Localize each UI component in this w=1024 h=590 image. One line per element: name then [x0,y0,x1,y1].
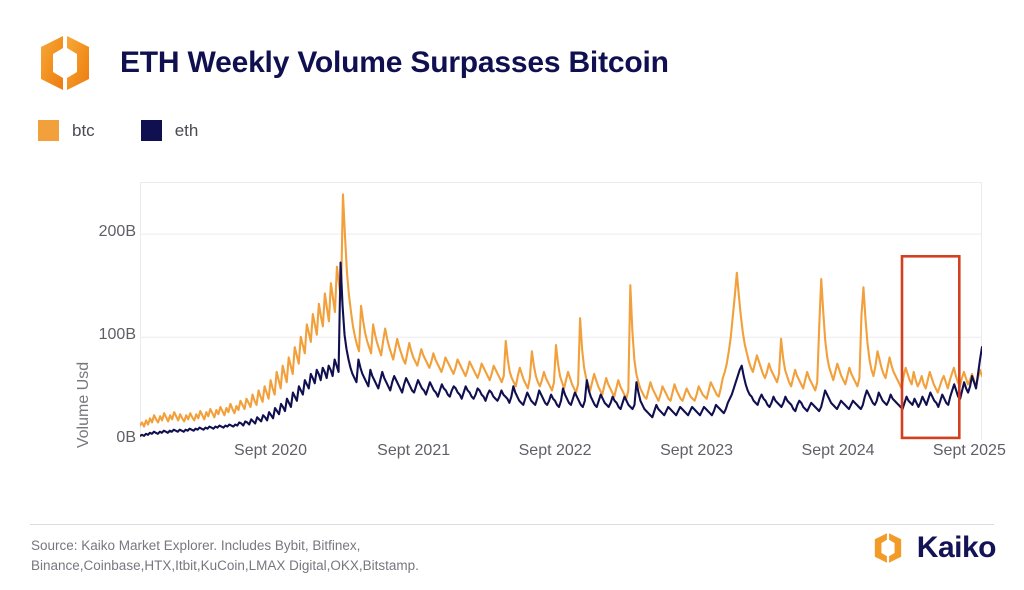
y-tick-label: 0B [64,429,136,447]
y-tick-label: 200B [64,223,136,241]
legend-swatch-eth-icon [141,120,162,141]
x-tick-label: Sept 2020 [234,442,307,460]
x-axis-ticks: Sept 2020Sept 2021Sept 2022Sept 2023Sept… [140,442,982,472]
legend-item-btc[interactable]: btc [38,120,95,141]
series-line-eth[interactable] [140,263,982,436]
page-title: ETH Weekly Volume Surpasses Bitcoin [120,46,669,80]
page-header: ETH Weekly Volume Surpasses Bitcoin [34,34,669,92]
kaiko-hexagon-icon [871,532,905,564]
chart-legend: btc eth [38,120,244,141]
series-line-btc[interactable] [140,194,982,426]
x-tick-label: Sept 2025 [933,442,1006,460]
plot-area [140,182,982,440]
legend-label-btc: btc [72,121,95,141]
source-note: Source: Kaiko Market Explorer. Includes … [31,536,551,575]
x-tick-label: Sept 2021 [377,442,450,460]
legend-label-eth: eth [175,121,199,141]
footer-divider [30,524,994,525]
footer-brand: Kaiko [871,531,996,565]
x-tick-label: Sept 2022 [519,442,592,460]
legend-item-eth[interactable]: eth [141,120,199,141]
y-axis-ticks: 0B100B200B [60,160,136,500]
footer-wordmark: Kaiko [917,531,996,565]
chart-page: ETH Weekly Volume Surpasses Bitcoin btc … [0,0,1024,590]
kaiko-hexagon-icon [34,34,96,92]
x-tick-label: Sept 2024 [802,442,875,460]
x-tick-label: Sept 2023 [660,442,733,460]
legend-swatch-btc-icon [38,120,59,141]
chart-container: Volume Usd 0B100B200B Sept 2020Sept 2021… [0,160,1024,500]
y-tick-label: 100B [64,326,136,344]
eth-surpass-highlight[interactable] [902,256,959,438]
